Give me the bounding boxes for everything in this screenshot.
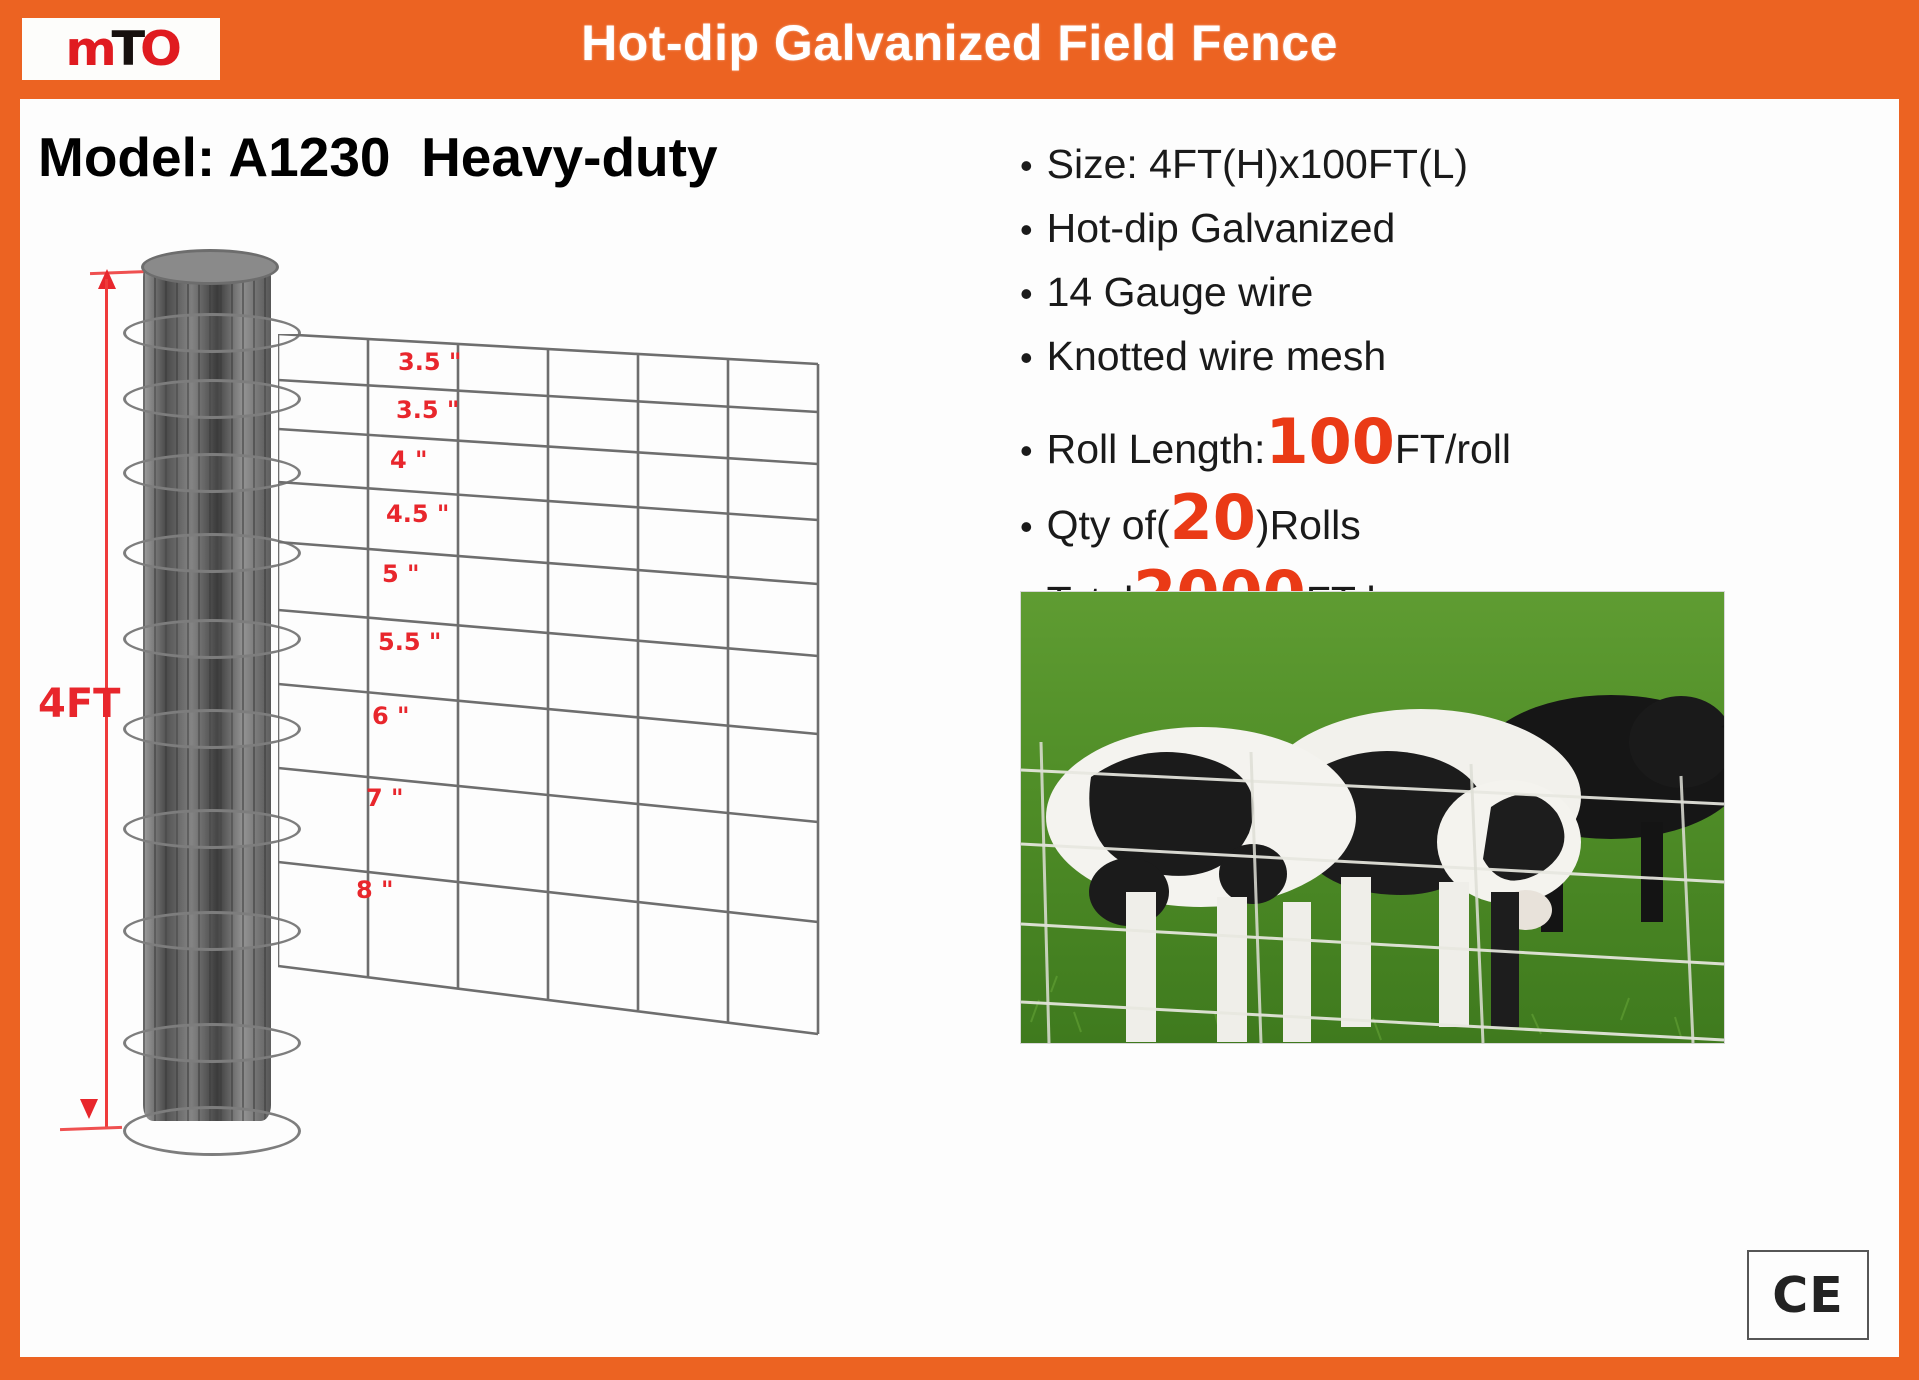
mesh-spacing-label: 4 " [390,446,428,474]
mesh-spacing-label: 5.5 " [378,628,441,656]
spec-text: Roll Length: [1047,429,1266,470]
bullet-icon: • [1020,148,1033,184]
spec-item-gauge: • 14 Gauge wire [1020,272,1740,313]
ce-label: CE [1772,1267,1843,1324]
bullet-icon: • [1020,340,1033,376]
roll-ring [123,379,301,419]
roll-ring [123,1023,301,1063]
height-dimension-label: 4FT [38,681,120,727]
bullet-icon: • [1020,509,1033,545]
header-bar: mTO Hot-dip Galvanized Field Fence [0,0,1919,98]
spec-text: 14 Gauge wire [1047,272,1314,313]
bullet-icon: • [1020,433,1033,469]
spec-text: Knotted wire mesh [1047,336,1387,377]
dimension-arrow-down-icon [80,1099,98,1119]
product-diagram: 4FT [20,239,970,1299]
page-title: Hot-dip Galvanized Field Fence [0,14,1919,72]
roll-ring [123,619,301,659]
mesh-spacing-label: 3.5 " [396,396,459,424]
spec-text-suffix: )Rolls [1256,505,1361,546]
mesh-spacing-label: 3.5 " [398,348,461,376]
fence-roll-illustration [125,261,290,1136]
spec-text: Hot-dip Galvanized [1047,208,1396,249]
spec-text: Qty of( [1047,505,1170,546]
mesh-spacing-label: 6 " [372,702,410,730]
spec-highlight-value: 100 [1265,417,1394,467]
roll-ring [123,809,301,849]
mesh-grid-svg [278,334,978,1214]
roll-ring [123,453,301,493]
spec-item-qty: • Qty of( 20 )Rolls [1020,493,1740,546]
mesh-spacing-label: 8 " [356,876,394,904]
spec-item-roll-length: • Roll Length: 100 FT/roll [1020,417,1740,470]
specifications-list: • Size: 4FT(H)x100FT(L) • Hot-dip Galvan… [1020,144,1740,645]
mesh-grid-illustration: 3.5 " 3.5 " 4 " 4.5 " 5 " 5.5 " 6 " 7 " … [278,334,978,1214]
spec-item-mesh-type: • Knotted wire mesh [1020,336,1740,377]
ce-certification-mark: CE [1747,1250,1869,1340]
cows-behind-fence-image [1021,592,1724,1043]
content-panel: Model: A1230 Heavy-duty 4FT [20,99,1899,1357]
roll-ring [123,533,301,573]
roll-top-cap [141,249,279,285]
dimension-tick-bottom [60,1126,122,1131]
spec-item-size: • Size: 4FT(H)x100FT(L) [1020,144,1740,185]
spec-text: Size: 4FT(H)x100FT(L) [1047,144,1468,185]
mesh-spacing-label: 4.5 " [386,500,449,528]
spec-highlight-value: 20 [1170,493,1256,543]
model-heading: Model: A1230 Heavy-duty [38,125,718,189]
roll-ring [123,313,301,353]
roll-ring [123,709,301,749]
mesh-spacing-label: 7 " [366,784,404,812]
spec-item-coating: • Hot-dip Galvanized [1020,208,1740,249]
bullet-icon: • [1020,276,1033,312]
spec-text-suffix: FT/roll [1395,429,1511,470]
mesh-spacing-label: 5 " [382,560,420,588]
roll-ring [123,1106,301,1156]
bullet-icon: • [1020,212,1033,248]
application-photo [1020,591,1725,1044]
roll-ring [123,911,301,951]
poster-root: mTO Hot-dip Galvanized Field Fence Model… [0,0,1919,1380]
